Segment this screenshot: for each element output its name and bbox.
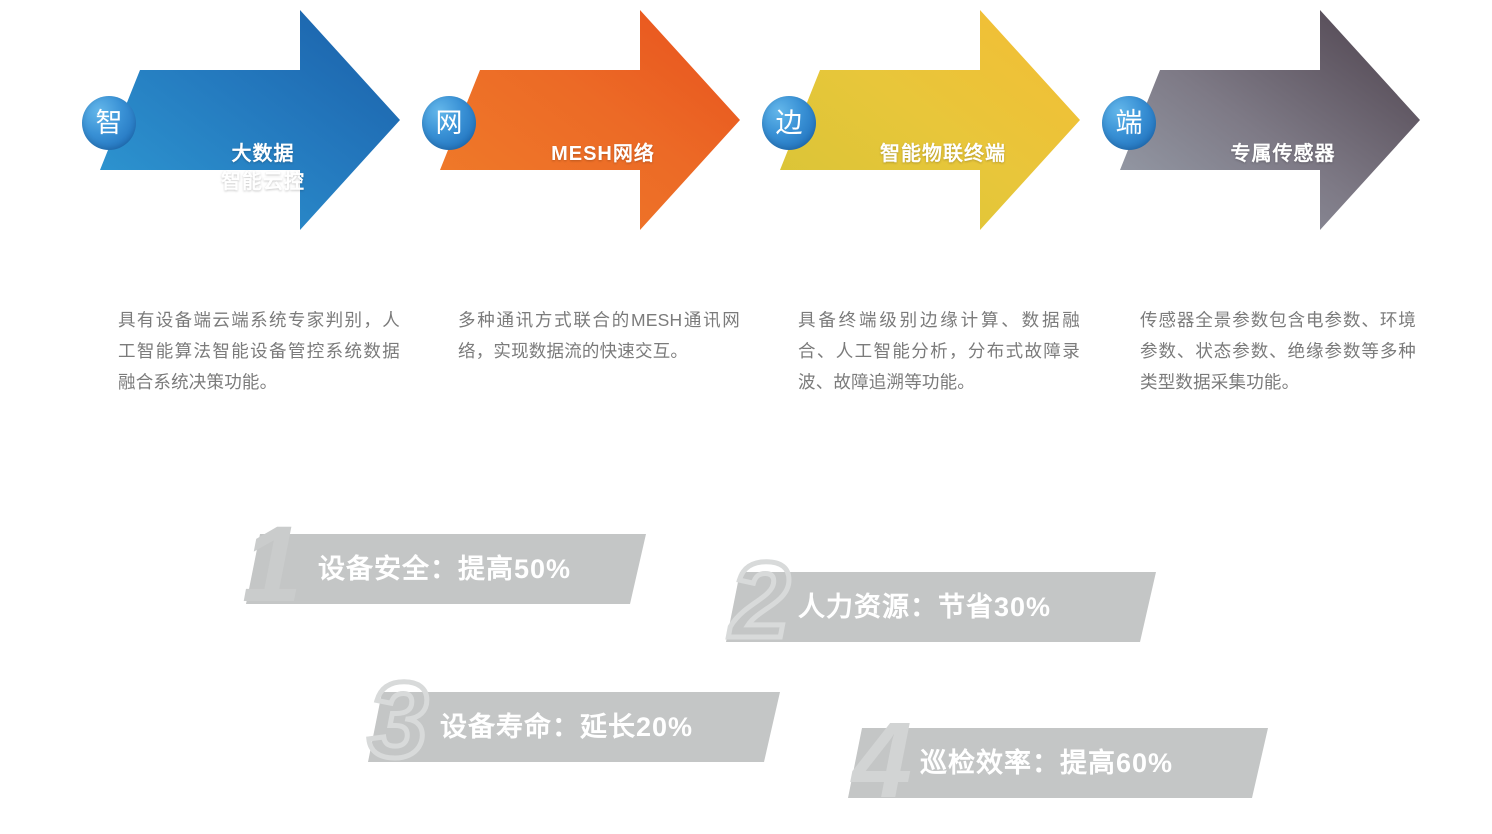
benefit-label-1: 设备安全：提高50% xyxy=(318,534,571,604)
stage-badge-4: 端 xyxy=(1102,96,1156,150)
benefit-item-3[interactable]: 3 设备寿命：延长20% xyxy=(368,692,780,762)
stage-description-3: 具备终端级别边缘计算、数据融合、人工智能分析，分布式故障录波、故障追溯等功能。 xyxy=(798,305,1080,398)
pipeline-arrow-row: 智 大数据 智能云控 网 MESH网络 xyxy=(0,0,1492,300)
arrow-shape-3 xyxy=(758,0,1098,300)
benefits-section: 1 设备安全：提高50% 2 人力资源：节省30% 3 设备寿命：延长20% 4… xyxy=(0,500,1492,834)
benefit-item-1[interactable]: 1 设备安全：提高50% xyxy=(246,534,646,604)
arrow-shape-2 xyxy=(418,0,758,300)
stage-badge-1: 智 xyxy=(82,96,136,150)
pipeline-description-row: 具有设备端云端系统专家判别，人工智能算法智能设备管控系统数据融合系统决策功能。 … xyxy=(0,300,1492,460)
pipeline-stage-1[interactable]: 智 大数据 智能云控 xyxy=(78,0,418,300)
stage-badge-3: 边 xyxy=(762,96,816,150)
benefit-label-3: 设备寿命：延长20% xyxy=(440,692,693,762)
pipeline-stage-2[interactable]: 网 MESH网络 xyxy=(418,0,758,300)
pipeline-stage-4[interactable]: 端 专属传感器 xyxy=(1098,0,1438,300)
stage-badge-2: 网 xyxy=(422,96,476,150)
stage-description-4: 传感器全景参数包含电参数、环境参数、状态参数、绝缘参数等多种类型数据采集功能。 xyxy=(1140,305,1416,398)
stage-description-1: 具有设备端云端系统专家判别，人工智能算法智能设备管控系统数据融合系统决策功能。 xyxy=(118,305,400,398)
stage-description-2: 多种通讯方式联合的MESH通讯网络，实现数据流的快速交互。 xyxy=(458,305,740,367)
pipeline-stage-3[interactable]: 边 智能物联终端 xyxy=(758,0,1098,300)
benefit-label-4: 巡检效率：提高60% xyxy=(920,728,1173,798)
benefit-item-2[interactable]: 2 人力资源：节省30% xyxy=(726,572,1156,642)
infographic-canvas: 智 大数据 智能云控 网 MESH网络 xyxy=(0,0,1492,834)
benefit-item-4[interactable]: 4 巡检效率：提高60% xyxy=(848,728,1268,798)
benefit-label-2: 人力资源：节省30% xyxy=(798,572,1051,642)
arrow-shape-1 xyxy=(78,0,418,300)
arrow-shape-4 xyxy=(1098,0,1438,300)
